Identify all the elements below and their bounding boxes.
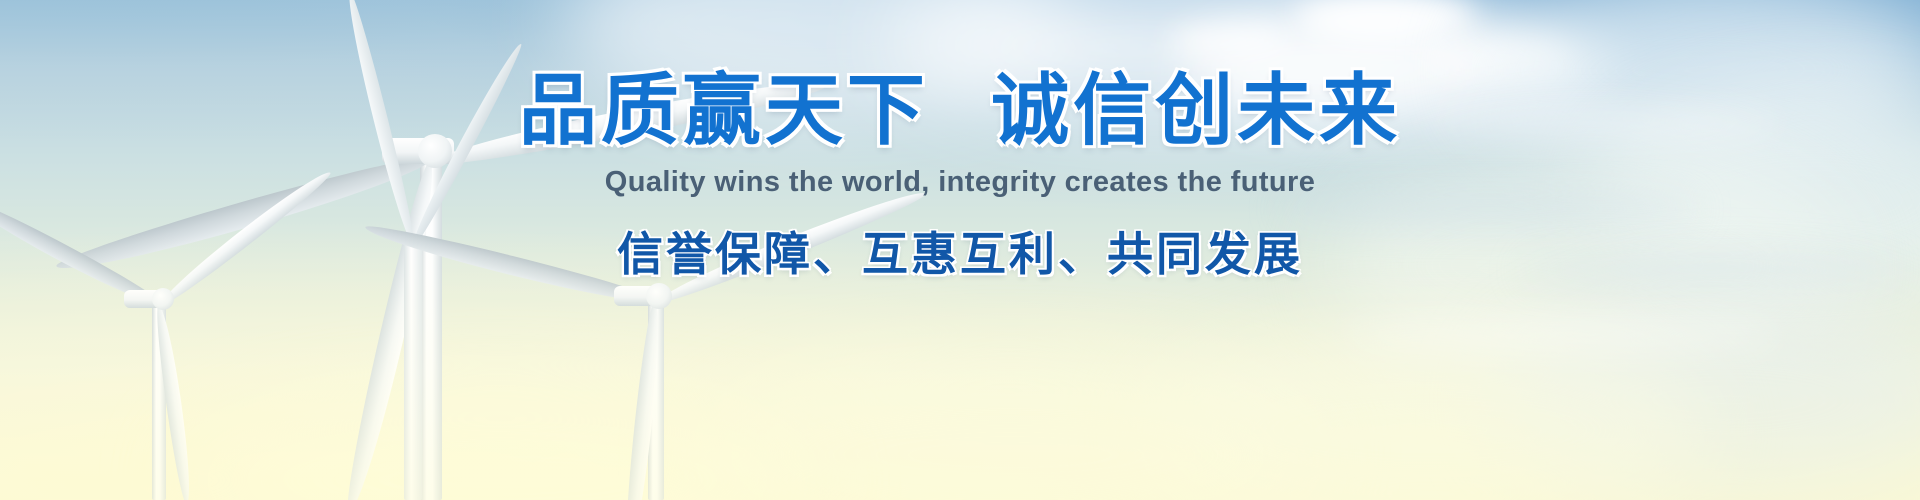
turbine-hub bbox=[646, 283, 672, 309]
cloud-streak bbox=[1190, 58, 1490, 76]
cloud-streak bbox=[1280, 196, 1700, 222]
hero-banner: 品质赢天下 诚信创未来 Quality wins the world, inte… bbox=[0, 0, 1920, 500]
cloud-streak bbox=[1520, 258, 1900, 282]
cloud-streak bbox=[980, 40, 1240, 56]
cloud-streak bbox=[1420, 112, 1780, 134]
turbine-blade bbox=[653, 184, 929, 309]
cloud-streak bbox=[1340, 322, 1780, 348]
wind-turbine-right bbox=[0, 0, 900, 500]
